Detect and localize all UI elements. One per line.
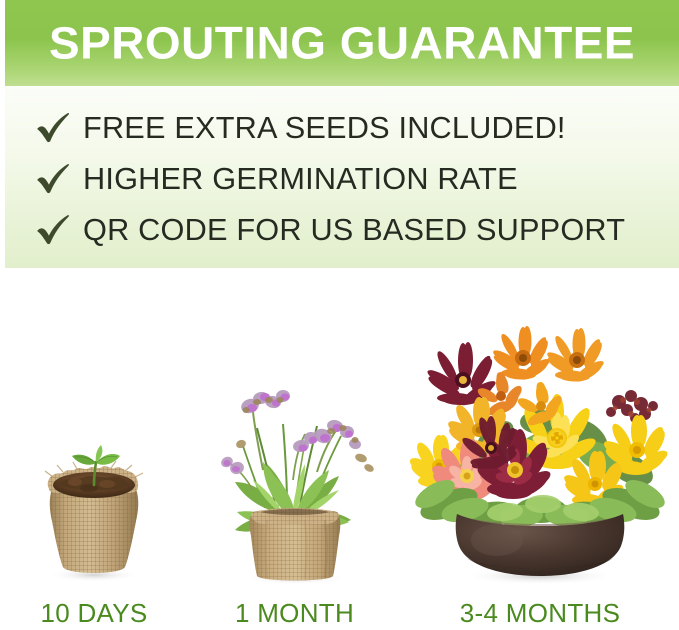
product-infographic: SPROUTING GUARANTEE FREE EXTRA SEEDS INC… bbox=[0, 0, 679, 630]
growth-stage-label: 10 DAYS bbox=[0, 600, 188, 626]
growth-stage-3: 3-4 MONTHS bbox=[401, 268, 679, 630]
growth-stage-label: 1 MONTH bbox=[188, 600, 401, 626]
page-title: SPROUTING GUARANTEE bbox=[5, 21, 679, 66]
header-banner: SPROUTING GUARANTEE bbox=[5, 0, 679, 86]
list-item-label: QR CODE FOR US BASED SUPPORT bbox=[83, 214, 625, 245]
burlap-pot-seedling-image bbox=[0, 425, 188, 590]
growth-stage-1: 10 DAYS bbox=[0, 268, 188, 630]
guarantee-checklist: FREE EXTRA SEEDS INCLUDED! HIGHER GERMIN… bbox=[5, 86, 679, 268]
list-item: QR CODE FOR US BASED SUPPORT bbox=[5, 204, 679, 255]
brown-bowl-zinnia-bouquet-image bbox=[401, 318, 679, 590]
burlap-sack-flowering-plant-image bbox=[188, 340, 401, 590]
growth-stage-2: 1 MONTH bbox=[188, 268, 401, 630]
check-icon bbox=[31, 208, 75, 252]
check-icon bbox=[31, 157, 75, 201]
check-icon bbox=[31, 106, 75, 150]
growth-stage-label: 3-4 MONTHS bbox=[401, 600, 679, 626]
growth-stages: 10 DAYS bbox=[0, 268, 679, 630]
list-item-label: HIGHER GERMINATION RATE bbox=[83, 163, 518, 194]
list-item-label: FREE EXTRA SEEDS INCLUDED! bbox=[83, 112, 566, 143]
list-item: FREE EXTRA SEEDS INCLUDED! bbox=[5, 102, 679, 153]
list-item: HIGHER GERMINATION RATE bbox=[5, 153, 679, 204]
